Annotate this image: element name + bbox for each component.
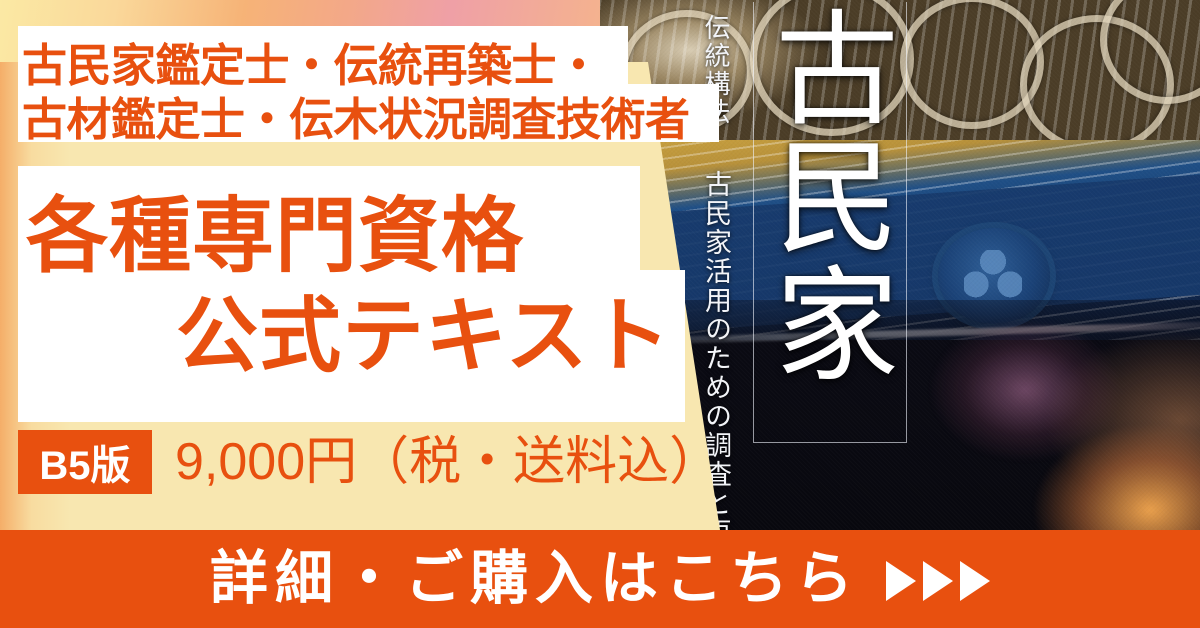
triangle-right-icon-1 [886, 561, 916, 601]
headline-line-1: 古民家鑑定士・伝統再築士・ [22, 43, 601, 88]
triangle-right-icon-2 [923, 561, 953, 601]
title-line-1: 各種専門資格 [26, 196, 524, 278]
size-badge: B5版 [18, 430, 152, 494]
triangle-right-icon-3 [960, 561, 990, 601]
promo-banner: 古民家 伝統構法 古民家活用のための調査と再生の 古民家鑑定士・伝統再築士・ 古… [0, 0, 1200, 628]
title-line-2: 公式テキスト [176, 296, 672, 378]
headline-line-2: 古材鑑定士・伝木状況調査技術者 [22, 97, 690, 142]
price-text: 9,000円（税・送料込） [175, 434, 721, 491]
cta-label: 詳細・ご購入はこちら [210, 550, 860, 608]
cover-title-vertical: 古民家 [761, 4, 897, 388]
cta-arrows [886, 561, 990, 601]
cta-bar[interactable]: 詳細・ご購入はこちら [0, 530, 1200, 628]
